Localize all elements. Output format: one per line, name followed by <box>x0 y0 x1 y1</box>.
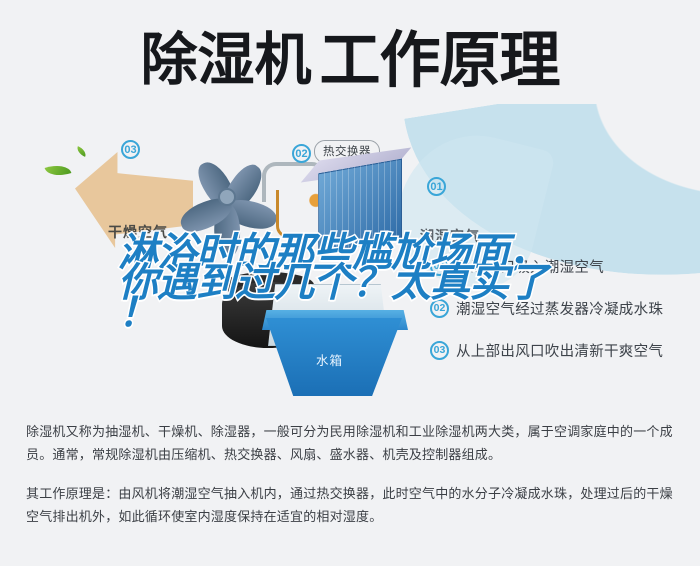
paragraph-definition: 除湿机又称为抽湿机、干燥机、除湿器，一般可分为民用除湿机和工业除湿机两大类，属于… <box>26 420 678 466</box>
title-part-working-principle: 工作原理 <box>319 28 559 92</box>
fan-hub <box>218 188 236 206</box>
leaf-icon <box>45 161 72 181</box>
legend-item: 03 从上部出风口吹出清新干爽空气 <box>430 340 698 360</box>
legend-number: 03 <box>430 341 449 360</box>
legend-text: 从上部出风口吹出清新干爽空气 <box>456 340 663 361</box>
title-part-dehumidifier: 除湿机 <box>140 28 311 92</box>
marker-03: 03 <box>121 140 140 159</box>
water-tank-label: 水箱 <box>316 350 343 369</box>
marker-01: 01 <box>427 177 446 196</box>
marker-02: 02 <box>292 144 311 163</box>
overlay-line-2: 你遇到过几个？太真实了 <box>118 268 698 298</box>
page-title: 除湿机工作原理 <box>0 28 700 92</box>
poster-page: 除湿机工作原理 03 干燥空气 02 热交换器 <box>0 0 700 566</box>
leaf-icon <box>75 146 88 157</box>
overlay-headline: 淋浴时的那些尴尬场面， 你遇到过几个？太真实了 ！ <box>118 238 698 328</box>
body-copy: 除湿机又称为抽湿机、干燥机、除湿器，一般可分为民用除湿机和工业除湿机两大类，属于… <box>26 420 678 528</box>
paragraph-principle: 其工作原理是：由风机将潮湿空气抽入机内，通过热交换器，此时空气中的水分子冷凝成水… <box>26 482 678 528</box>
